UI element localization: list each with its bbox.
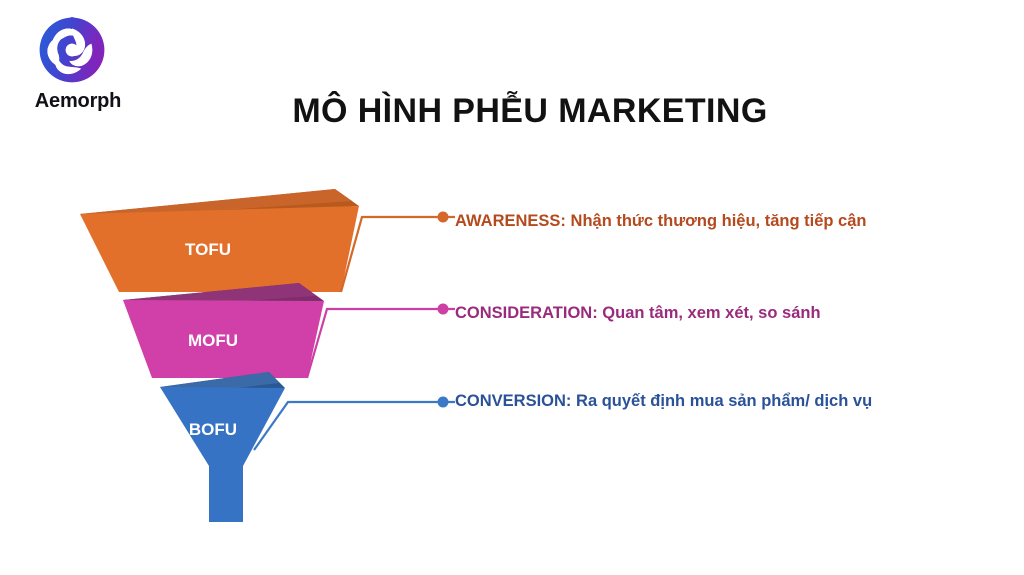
callout-consideration: CONSIDERATION: Quan tâm, xem xét, so sán… (455, 304, 821, 324)
callout-awareness-term: AWARENESS: (455, 212, 566, 230)
brand-logo: Aemorph (18, 14, 138, 114)
callout-consideration-description: Quan tâm, xem xét, so sánh (598, 304, 821, 322)
callout-awareness-description: Nhận thức thương hiệu, tăng tiếp cận (566, 212, 867, 230)
bofu-label: BOFU (189, 420, 237, 439)
connector-conversion (254, 397, 455, 451)
callout-conversion: CONVERSION: Ra quyết định mua sản phẩm/ … (455, 392, 872, 412)
funnel-stage-tofu[interactable]: TOFU (80, 189, 359, 292)
callout-awareness: AWARENESS: Nhận thức thương hiệu, tăng t… (455, 212, 866, 232)
connector-consideration (307, 304, 455, 379)
awareness-connector-dot (438, 212, 449, 223)
callout-consideration-term: CONSIDERATION: (455, 304, 598, 322)
callout-conversion-description: Ra quyết định mua sản phẩm/ dịch vụ (571, 392, 872, 410)
funnel-stage-mofu[interactable]: MOFU (123, 283, 324, 378)
marketing-funnel-diagram: TOFU MOFU BOFU (0, 170, 470, 540)
funnel-stage-bofu[interactable]: BOFU (160, 372, 285, 522)
page-title: MÔ HÌNH PHỄU MARKETING (180, 92, 880, 131)
callout-conversion-term: CONVERSION: (455, 392, 571, 410)
tofu-label: TOFU (185, 240, 231, 259)
connector-awareness (341, 212, 455, 293)
conversion-connector-dot (438, 397, 449, 408)
bofu-body (160, 387, 285, 522)
consideration-connector-dot (438, 304, 449, 315)
mofu-label: MOFU (188, 331, 238, 350)
aemorph-hexagon-swirl-icon (34, 14, 110, 86)
brand-name: Aemorph (18, 90, 138, 113)
slide-canvas: Aemorph MÔ HÌNH PHỄU MARKETING TOFU MOFU… (0, 0, 1024, 575)
